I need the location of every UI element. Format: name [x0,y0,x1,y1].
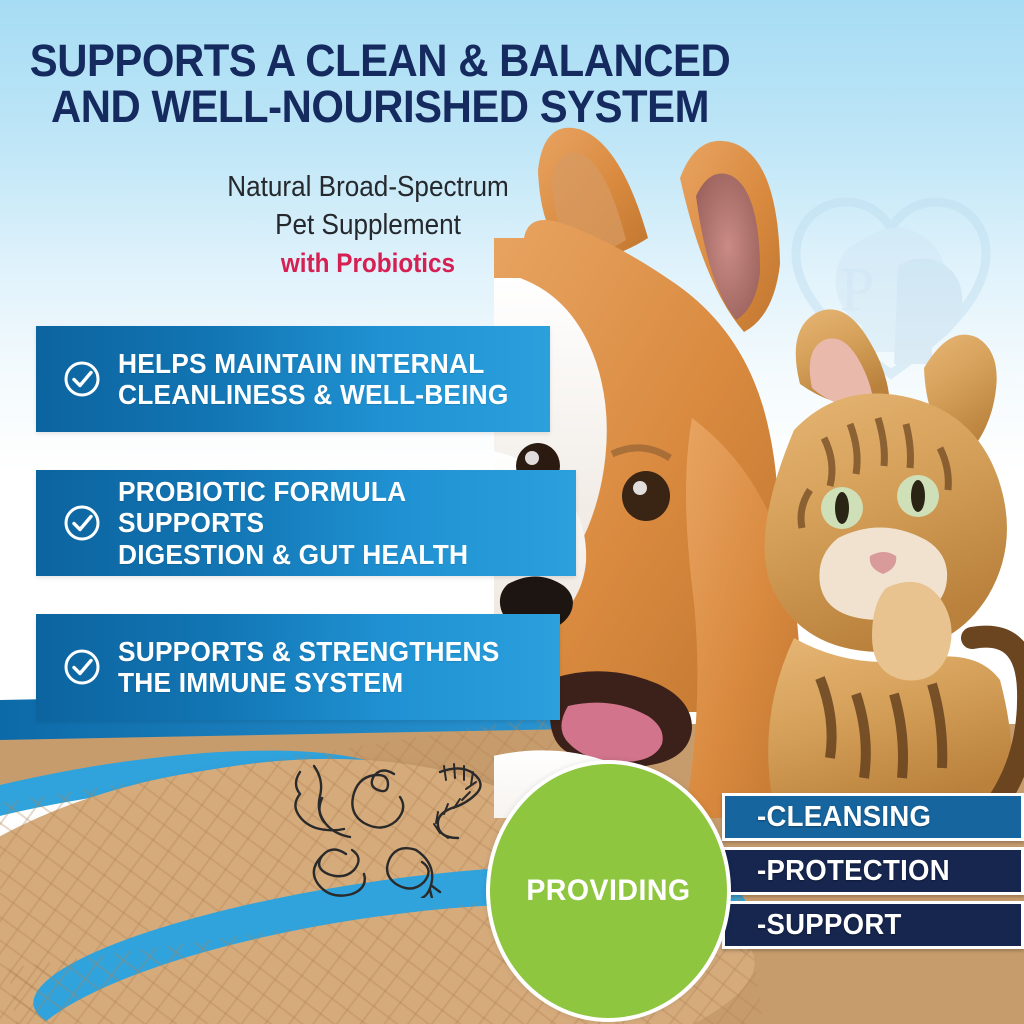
check-circle-icon [62,503,102,543]
benefit-bar-label: -SUPPORT [757,909,902,942]
feature-bar-text: SUPPORTS & STRENGTHENS THE IMMUNE SYSTEM [118,636,499,699]
feature-bar-text: HELPS MAINTAIN INTERNAL CLEANLINESS & WE… [118,348,509,411]
parasite-worms-icon [288,758,503,898]
subtitle-probiotics: with Probiotics [89,245,647,282]
headline-line-1: SUPPORTS A CLEAN & BALANCED [30,35,730,86]
page-headline: SUPPORTS A CLEAN & BALANCED AND WELL-NOU… [27,38,734,130]
benefit-bar-protection: -PROTECTION [722,847,1024,895]
feature-bar: HELPS MAINTAIN INTERNAL CLEANLINESS & WE… [36,326,550,432]
check-circle-icon [62,647,102,687]
benefit-bar-label: -PROTECTION [757,855,950,888]
feature-bar-text: PROBIOTIC FORMULA SUPPORTS DIGESTION & G… [118,476,549,570]
headline-line-2: AND WELL-NOURISHED SYSTEM [27,84,734,130]
check-circle-icon [62,359,102,399]
benefit-bar-label: -CLEANSING [757,801,931,834]
feature-bar-list: HELPS MAINTAIN INTERNAL CLEANLINESS & WE… [0,326,1024,720]
feature-bar: SUPPORTS & STRENGTHENS THE IMMUNE SYSTEM [36,614,560,720]
benefit-bar-list: -CLEANSING -PROTECTION -SUPPORT [722,793,1024,955]
benefit-bar-support: -SUPPORT [722,901,1024,949]
subtitle-block: Natural Broad-Spectrum Pet Supplement wi… [58,168,678,282]
providing-badge: PROVIDING [486,760,731,1022]
advertisement-canvas: P [0,0,1024,1024]
subtitle-line-1: Natural Broad-Spectrum [89,168,647,206]
benefit-bar-cleansing: -CLEANSING [722,793,1024,841]
feature-bar: PROBIOTIC FORMULA SUPPORTS DIGESTION & G… [36,470,576,576]
providing-label: PROVIDING [526,874,690,908]
subtitle-line-2: Pet Supplement [89,206,647,244]
